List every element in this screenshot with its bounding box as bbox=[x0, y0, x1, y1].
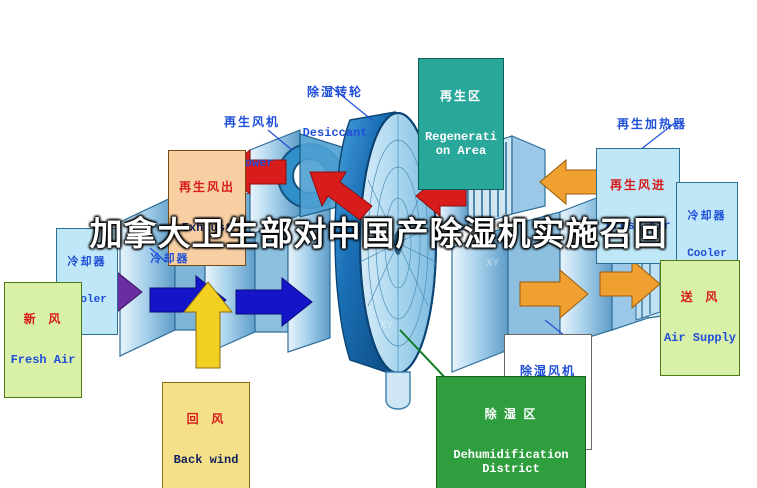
diagram-canvas: 除湿转轮 Desiccant 再生风机 Blower 再生区 Regenerat… bbox=[0, 0, 757, 488]
headline-overlay: 加拿大卫生部对中国产除湿机实施召回 bbox=[0, 212, 757, 256]
label-dehumid-district: 除 湿 区 Dehumidification District bbox=[436, 376, 586, 488]
watermark-1: XY bbox=[380, 320, 393, 332]
condensate-spout bbox=[386, 372, 410, 409]
label-back-wind: 回 风 Back wind bbox=[162, 382, 250, 488]
arrow-regen-fresh-air bbox=[540, 160, 600, 204]
label-regen-area: 再生区 Regenerati on Area bbox=[418, 58, 504, 190]
label-fresh-air: 新 风 Fresh Air bbox=[4, 282, 82, 398]
label-air-supply: 送 风 Air Supply bbox=[660, 260, 740, 376]
label-desiccant-wheel: 除湿转轮 Desiccant bbox=[287, 58, 383, 168]
watermark-2: XY bbox=[486, 258, 499, 270]
